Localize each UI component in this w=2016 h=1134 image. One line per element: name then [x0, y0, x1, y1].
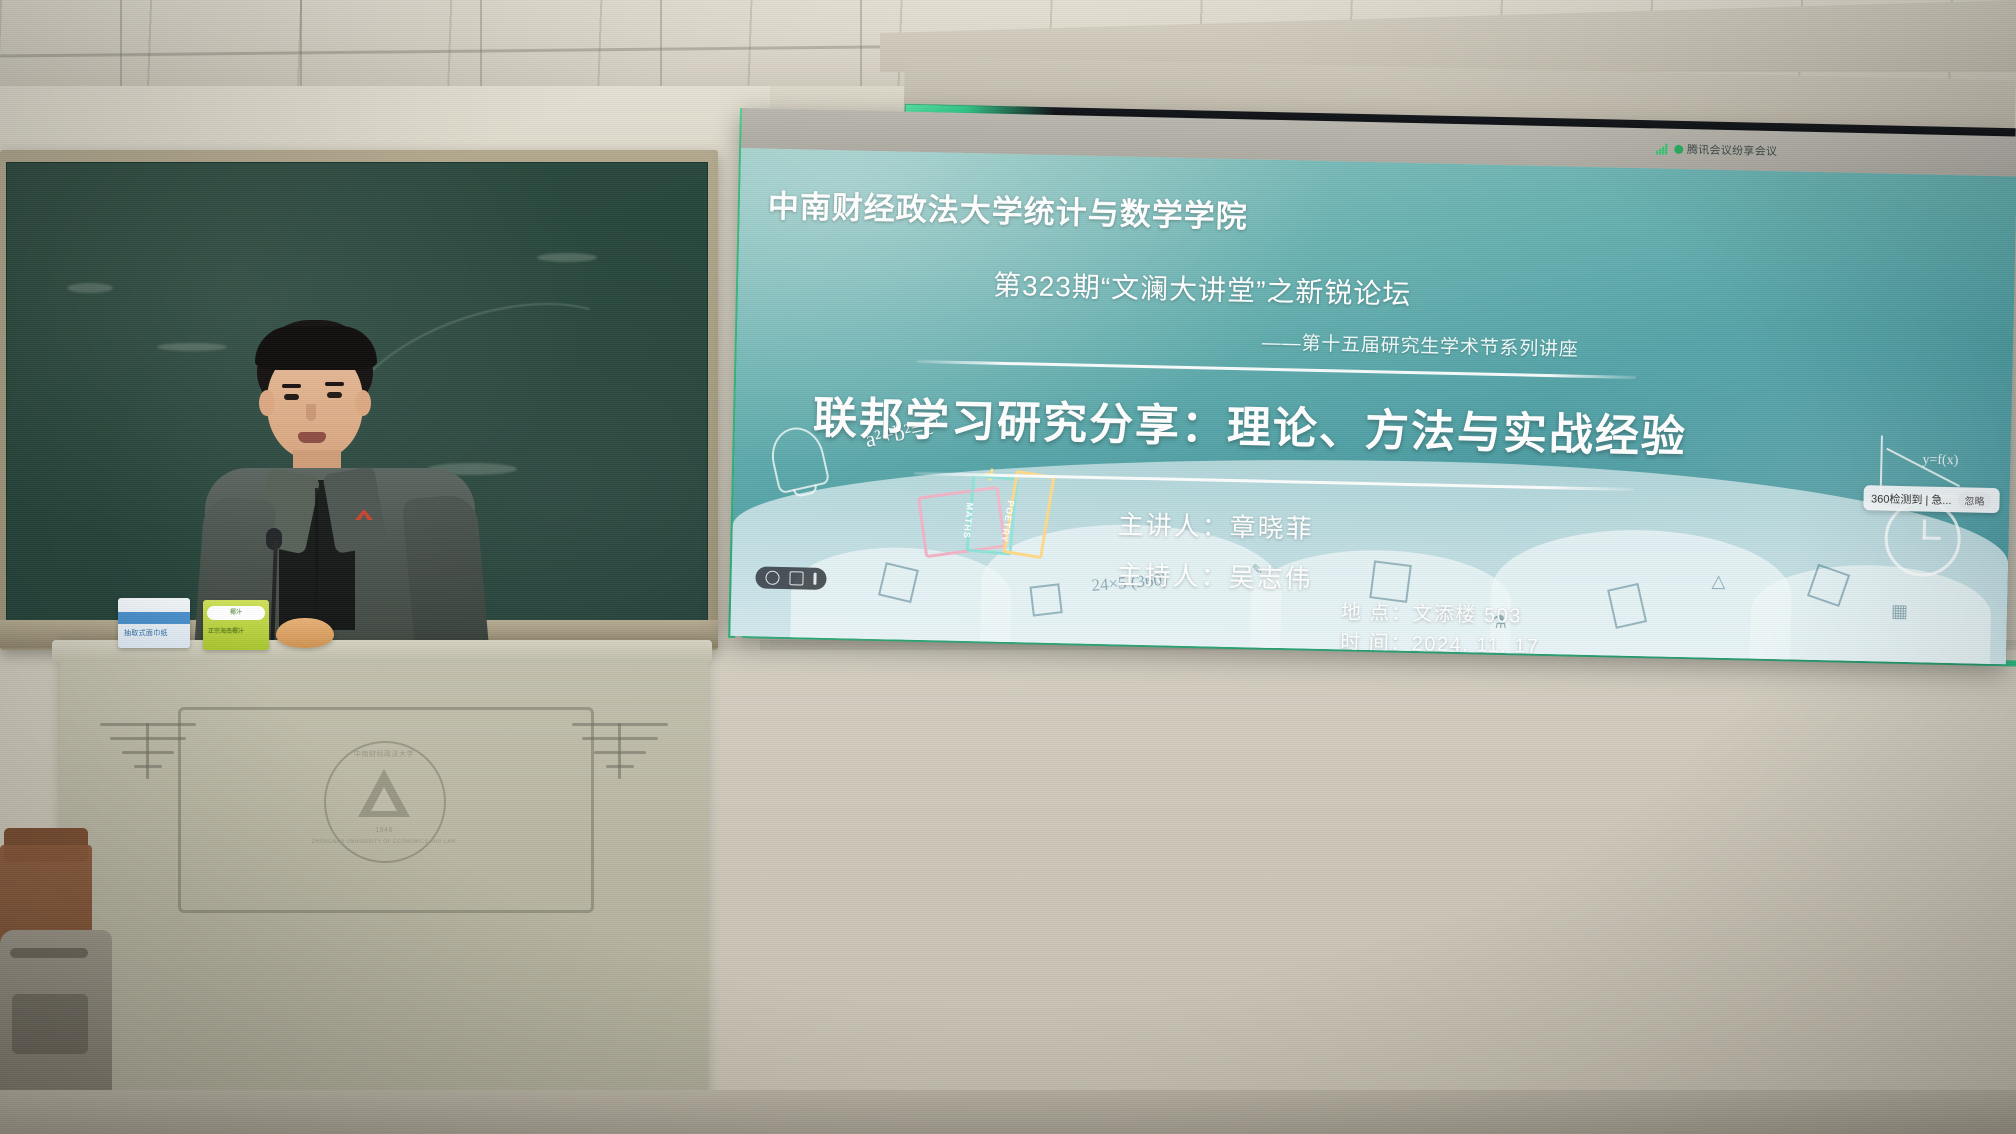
- book-label-maths: MATHS: [962, 502, 975, 539]
- more-icon[interactable]: [813, 573, 816, 585]
- slide-canvas: 24×5 (360) ✎ ⚗ △ ▦ a²+b²=c² + MATHS POET…: [730, 148, 2016, 664]
- tissue-box: 抽取式面巾纸: [118, 598, 190, 648]
- green-carton-text: 正宗海南椰汁: [208, 626, 244, 635]
- slide-series-subline: ——第十五届研究生学术节系列讲座: [1262, 328, 1579, 362]
- antivirus-notification-text: 360检测到 | 急...: [1871, 490, 1952, 508]
- eye-right: [327, 392, 342, 398]
- emblem-text-cn: 中南财经政法大学: [354, 749, 414, 759]
- antivirus-ignore-button[interactable]: 忽略: [1957, 491, 1991, 509]
- floating-toolbar[interactable]: [755, 566, 826, 590]
- emblem-year: 1948: [375, 827, 393, 834]
- axis-label: y=f(x): [1922, 452, 1958, 469]
- hair-fringe: [255, 326, 377, 370]
- emblem-peak-inner: [371, 787, 397, 811]
- wifi-signal-icon: [1656, 143, 1669, 154]
- slide-series-line: 第323期“文澜大讲堂”之新锐论坛: [993, 264, 1412, 313]
- green-carton: 椰汁 正宗海南椰汁: [203, 600, 269, 650]
- slide-speaker-label: 主讲人：章晓菲: [1117, 505, 1314, 546]
- antivirus-notification-widget[interactable]: 360检测到 | 急... 忽略: [1863, 485, 2000, 513]
- podium: 中南财经政法大学 1948 ZHONGNAN UNIVERSITY OF ECO…: [60, 645, 708, 1134]
- recording-dot-icon: [1674, 144, 1683, 153]
- jacket-zipper: [315, 488, 318, 638]
- ear-left: [259, 390, 275, 416]
- mouth: [298, 432, 326, 443]
- slide-organization-title: 中南财经政法大学统计与数学学院: [767, 181, 1248, 237]
- university-emblem: 中南财经政法大学 1948 ZHONGNAN UNIVERSITY OF ECO…: [324, 741, 444, 861]
- podium-vent-right: [572, 723, 668, 793]
- projection-screen[interactable]: 腾讯会议纷享会议 24×5 (360) ✎ ⚗ △: [730, 108, 2016, 664]
- lecture-hall-photo: 腾讯会议纷享会议 24×5 (360) ✎ ⚗ △: [0, 0, 2016, 1134]
- tissue-box-label: 抽取式面巾纸: [124, 628, 168, 638]
- globe-icon[interactable]: [765, 571, 779, 585]
- eyebrow-left: [282, 384, 301, 388]
- green-carton-label: 椰汁: [207, 606, 265, 620]
- eyebrow-right: [325, 382, 344, 386]
- title-rule-top: [916, 360, 1636, 379]
- podium-vent-left: [100, 723, 196, 793]
- slide-venue-label: 地 点：文添楼 503: [1341, 596, 1523, 629]
- backpack-strap: [10, 948, 88, 958]
- slide-host-label: 主持人：吴志伟: [1116, 554, 1313, 595]
- emblem-text-en: ZHONGNAN UNIVERSITY OF ECONOMICS AND LAW: [312, 839, 456, 845]
- wall-lower: [700, 650, 2016, 1134]
- bread-roll: [276, 618, 334, 648]
- floor: [0, 1090, 2016, 1134]
- eye-left: [284, 394, 299, 400]
- tissue-box-band: [118, 612, 190, 624]
- backpack-pocket: [12, 994, 88, 1054]
- image-icon[interactable]: [789, 571, 803, 585]
- meeting-status-label: 腾讯会议纷享会议: [1687, 141, 1778, 159]
- nose: [306, 404, 316, 421]
- ear-right: [355, 390, 371, 416]
- books-illustration: + MATHS POETRY: [912, 452, 1084, 566]
